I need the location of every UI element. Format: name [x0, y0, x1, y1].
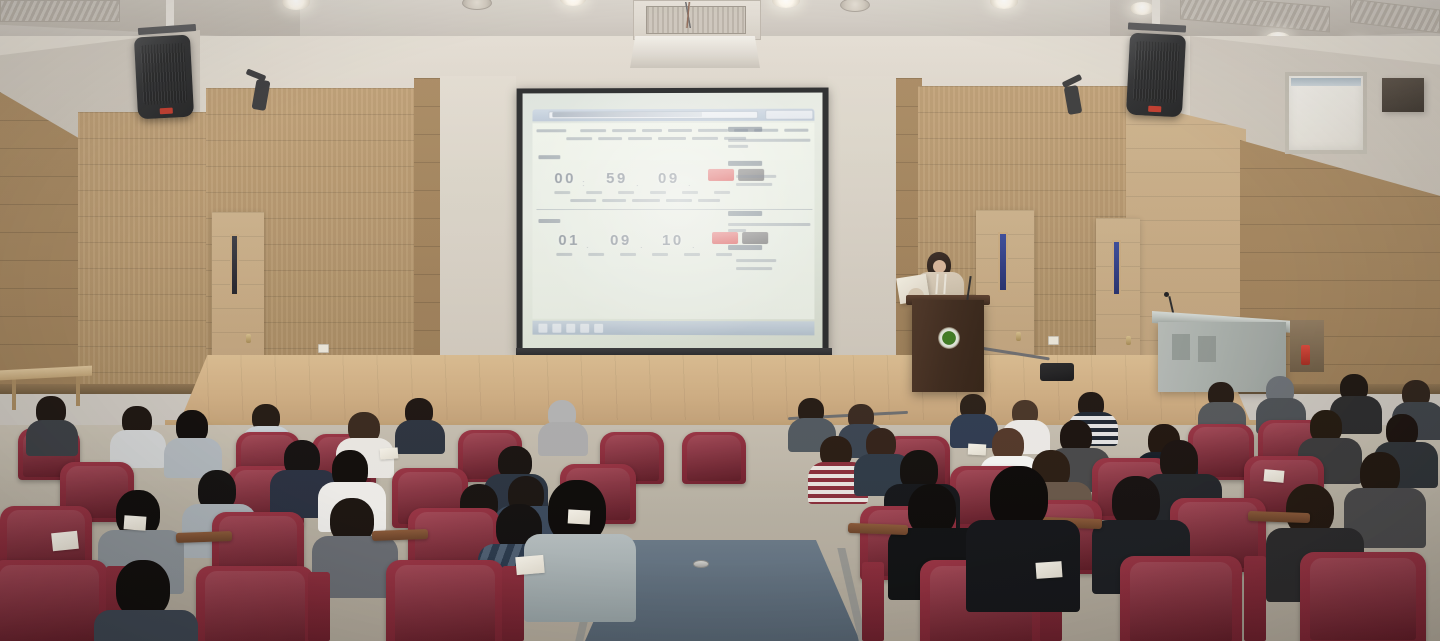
screen-mini-label [586, 191, 602, 194]
person-torso [966, 520, 1080, 612]
sidebar-text [728, 229, 746, 232]
screen-digit: 10 [662, 233, 684, 248]
section-label [538, 155, 560, 159]
taskbar-icon[interactable] [566, 324, 575, 333]
seat-side-panel [862, 562, 884, 641]
exam-paper [1264, 469, 1285, 483]
ceiling-vent [0, 0, 120, 22]
door-handle[interactable] [1126, 336, 1131, 345]
sidebar-text [736, 259, 776, 262]
screen-separator: . [636, 179, 639, 188]
projection-screen-surface: 00 : 59 . 09 . 01 [523, 93, 823, 352]
ceiling-downlight [1130, 2, 1154, 15]
door-window [1112, 240, 1121, 296]
screen-digit: 00 [554, 171, 576, 186]
seat-side-panel [502, 566, 524, 641]
exam-paper [380, 447, 399, 459]
door-handle[interactable] [246, 334, 251, 343]
speaker-mount-pole [1152, 0, 1160, 26]
sidebar-heading [728, 211, 762, 216]
screen-primary-button[interactable] [712, 232, 738, 244]
seat[interactable] [196, 566, 314, 641]
sidebar-heading [728, 127, 762, 132]
sidebar-text [728, 145, 748, 148]
browser-url-text [552, 111, 702, 116]
screen-mini-label [588, 253, 604, 256]
seat-side-panel [308, 572, 330, 641]
person-torso [538, 422, 588, 456]
presenter-lanyard [935, 274, 946, 294]
ceiling-speaker-left [134, 35, 194, 120]
seat-side-panel [1244, 556, 1266, 641]
screen-digit: 09 [658, 171, 680, 186]
sidebar-text [728, 223, 810, 226]
floor-bag [1040, 363, 1074, 381]
wall-outlet [1048, 336, 1059, 345]
screen-primary-button[interactable] [708, 169, 734, 181]
exam-paper [515, 555, 544, 575]
exam-paper [51, 531, 79, 552]
screen-separator: . [640, 241, 643, 250]
sidebar-text [728, 139, 810, 142]
sidebar-text [736, 175, 776, 178]
console-microphone-head [1164, 292, 1169, 297]
exam-paper [124, 515, 147, 531]
screen-mini-label [652, 253, 668, 256]
person-torso [26, 420, 78, 456]
screen-section-divider [536, 209, 812, 210]
screen-digit: 59 [606, 171, 628, 186]
screen-secondary-button[interactable] [742, 232, 768, 244]
seat-armrest [848, 523, 908, 535]
acoustic-panel-right [828, 76, 900, 390]
door-handle[interactable] [1016, 332, 1021, 341]
seat[interactable] [1300, 552, 1426, 641]
podium-emblem [938, 327, 960, 349]
seat[interactable] [386, 560, 504, 641]
wood-wall-left-return [0, 92, 82, 392]
browser-page-body [532, 123, 814, 320]
exam-paper [968, 444, 987, 456]
screen-mini-label [716, 253, 732, 256]
person-torso [524, 534, 636, 622]
projector-cabling [672, 2, 706, 28]
speaker-grille [1133, 41, 1180, 103]
screen-digit: 09 [610, 233, 632, 248]
screen-mini-label [684, 253, 700, 256]
ceiling-speaker-right [1126, 33, 1186, 118]
speaker-grille [140, 43, 187, 105]
screen-separator: : [582, 179, 585, 188]
auditorium-scene: 00 : 59 . 09 . 01 [0, 0, 1440, 641]
sidebar-heading [728, 161, 762, 166]
sidebar-text [736, 183, 772, 186]
screen-separator: . [586, 241, 589, 250]
screen-separator: . [688, 179, 691, 188]
door-window [998, 232, 1008, 292]
browser-secondary-tab[interactable] [765, 110, 813, 120]
exam-paper [568, 509, 591, 524]
screen-mini-label [682, 191, 698, 194]
sidebar-text [736, 267, 772, 270]
taskbar-icon[interactable] [594, 324, 603, 333]
podium-emblem-core [942, 331, 956, 345]
projection-screen: 00 : 59 . 09 . 01 [517, 88, 829, 357]
speaker-brand-logo [160, 108, 173, 115]
fire-extinguisher [1301, 345, 1310, 365]
wood-wall-pilaster-left [414, 78, 442, 390]
console-panel[interactable] [1172, 334, 1190, 360]
seat-armrest [1248, 511, 1310, 523]
speaker-brand-logo [1148, 106, 1161, 113]
wood-wall-left [78, 112, 210, 390]
screen-separator: . [692, 241, 695, 250]
exam-paper [1035, 561, 1062, 579]
taskbar-icon[interactable] [552, 324, 561, 333]
person-torso [94, 610, 198, 641]
taskbar-icon[interactable] [538, 324, 547, 333]
side-table-leg [76, 376, 80, 406]
screen-mini-label [714, 191, 730, 194]
seat[interactable] [0, 560, 108, 641]
aisle-floor-outlet [693, 560, 709, 568]
seat-armrest [372, 529, 428, 541]
projection-booth-window [1285, 72, 1367, 154]
console-panel[interactable] [1198, 336, 1216, 362]
screen-mini-label [554, 191, 570, 194]
booth-window-blind [1291, 78, 1361, 86]
screen-mini-label [618, 191, 634, 194]
wall-mounted-equipment-box [1382, 78, 1424, 112]
screen-mini-label [620, 253, 636, 256]
seat-armrest [176, 531, 232, 543]
person-torso [395, 420, 445, 454]
section-label [538, 219, 560, 223]
seat[interactable] [1120, 556, 1242, 641]
screen-mini-label [650, 191, 666, 194]
seat[interactable] [682, 432, 746, 484]
sidebar-heading [728, 245, 762, 250]
page-nav-row-2 [570, 199, 750, 207]
screen-mini-label [556, 253, 572, 256]
acoustic-panel-left [440, 76, 516, 390]
screen-digit: 01 [558, 233, 580, 248]
wall-outlet [318, 344, 329, 353]
door-window [230, 234, 239, 296]
ceiling-projector [630, 36, 760, 68]
side-table-leg [12, 376, 16, 410]
taskbar-icon[interactable] [580, 324, 589, 333]
